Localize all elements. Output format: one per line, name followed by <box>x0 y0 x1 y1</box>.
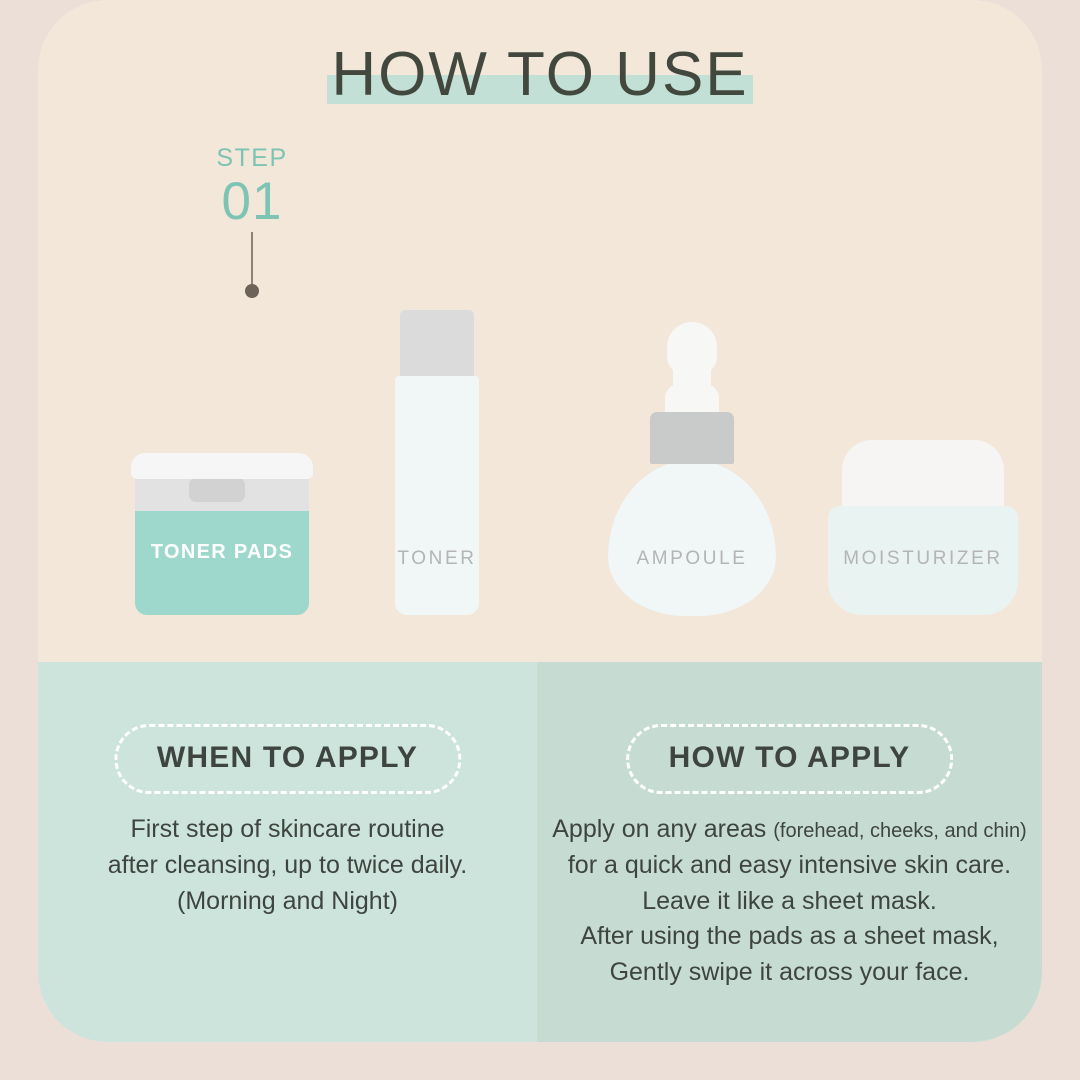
step-connector-dot <box>245 284 259 298</box>
step-label: STEP <box>190 146 314 171</box>
step-number: 01 <box>190 174 314 230</box>
heading-when-to-apply: WHEN TO APPLY <box>114 724 461 794</box>
product-label-ampoule: AMPOULE <box>608 548 776 570</box>
body-how-to-apply: Apply on any areas (forehead, cheeks, an… <box>537 812 1042 991</box>
step-indicator: STEP 01 <box>190 146 314 230</box>
body-when-to-apply: First step of skincare routine after cle… <box>38 812 537 919</box>
when-line-3: (Morning and Night) <box>50 884 525 920</box>
panel-when-to-apply: WHEN TO APPLY First step of skincare rou… <box>38 662 537 1042</box>
panel-how-to-apply: HOW TO APPLY Apply on any areas (forehea… <box>537 662 1042 1042</box>
instructions-section: WHEN TO APPLY First step of skincare rou… <box>38 662 1042 1042</box>
ampoule-body <box>608 460 776 616</box>
how-line-3: Leave it like a sheet mask. <box>549 884 1030 920</box>
when-line-2: after cleansing, up to twice daily. <box>50 848 525 884</box>
product-row: TONER PADS TONER AMPOULE MOI <box>38 300 1042 630</box>
step-connector-line <box>251 232 253 288</box>
infographic-card: HOW TO USE STEP 01 TONER PADS <box>38 0 1042 1042</box>
heading-how-to-apply: HOW TO APPLY <box>626 724 954 794</box>
products-section: HOW TO USE STEP 01 TONER PADS <box>38 0 1042 662</box>
when-line-1: First step of skincare routine <box>50 812 525 848</box>
product-ampoule <box>608 322 776 616</box>
ampoule-collar <box>650 412 734 464</box>
how-line-5: Gently swipe it across your face. <box>549 955 1030 991</box>
page-title: HOW TO USE <box>38 38 1042 111</box>
how-line-1: Apply on any areas (forehead, cheeks, an… <box>549 812 1030 848</box>
bottle-body <box>395 376 479 615</box>
product-toner-pads: TONER PADS <box>130 453 314 615</box>
how-line-1-paren: (forehead, cheeks, and chin) <box>773 820 1027 842</box>
bottle-cap <box>400 310 474 378</box>
how-line-4: After using the pads as a sheet mask, <box>549 919 1030 955</box>
product-label-toner: TONER <box>387 548 487 570</box>
how-line-1-main: Apply on any areas <box>552 815 766 843</box>
how-line-2: for a quick and easy intensive skin care… <box>549 848 1030 884</box>
product-label-toner-pads: TONER PADS <box>130 541 314 564</box>
jar-lid-tab <box>189 478 245 502</box>
product-moisturizer <box>828 440 1018 615</box>
product-label-moisturizer: MOISTURIZER <box>828 548 1018 570</box>
jar-lid-top <box>131 453 313 479</box>
page-title-text: HOW TO USE <box>331 40 748 109</box>
